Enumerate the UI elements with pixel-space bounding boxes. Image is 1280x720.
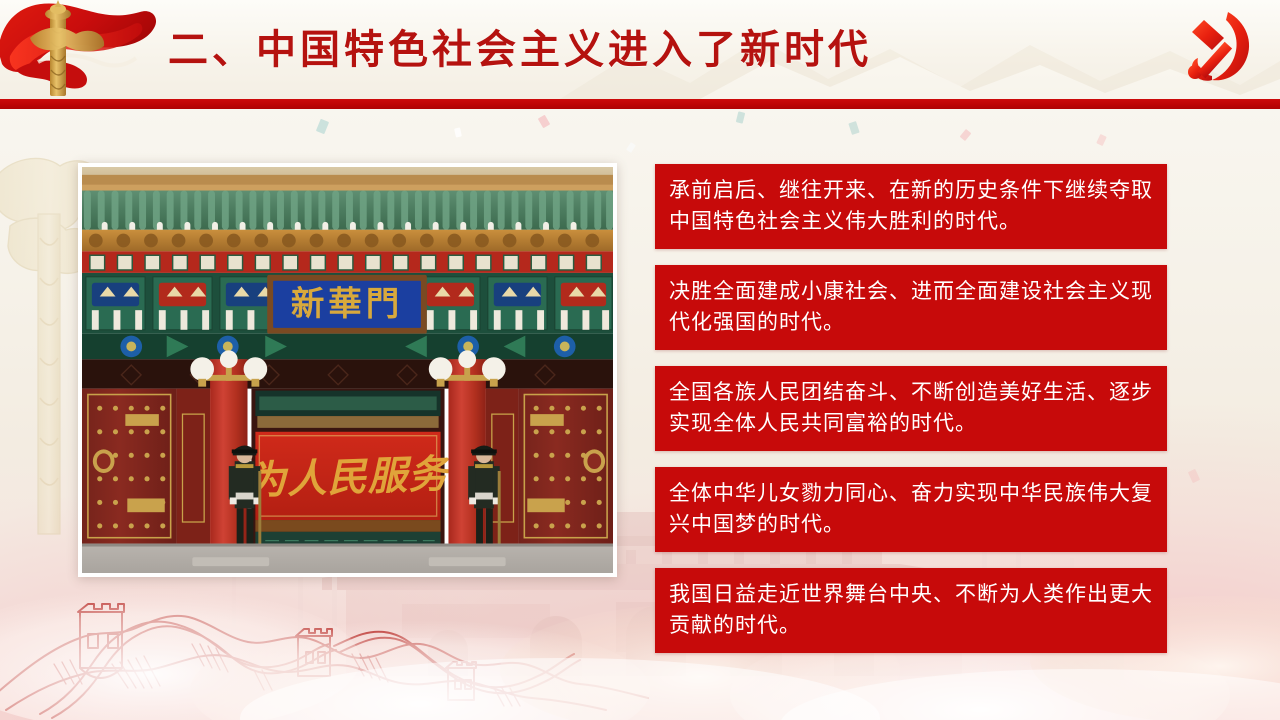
confetti-fleck (1188, 469, 1200, 483)
confetti-fleck (626, 142, 636, 153)
statement-panel: 决胜全面建成小康社会、进而全面建设社会主义现代化强国的时代。 (655, 265, 1167, 350)
great-wall-line-art (0, 572, 656, 720)
statement-panel-list: 承前启后、继往开来、在新的历史条件下继续夺取中国特色社会主义伟大胜利的时代。 决… (655, 164, 1167, 653)
confetti-fleck (1096, 134, 1107, 146)
statement-panel: 全国各族人民团结奋斗、不断创造美好生活、逐步实现全体人民共同富裕的时代。 (655, 366, 1167, 451)
confetti-fleck (848, 121, 859, 135)
header-divider-rule (0, 99, 1280, 109)
statement-panel: 我国日益走近世界舞台中央、不断为人类作出更大贡献的时代。 (655, 568, 1167, 653)
slide-header: 二、中国特色社会主义进入了新时代 (0, 0, 1280, 99)
confetti-fleck (316, 119, 329, 134)
cpc-hammer-sickle-emblem (1168, 6, 1264, 90)
svg-text:为人民服务: 为人民服务 (246, 452, 453, 503)
statement-panel: 承前启后、继往开来、在新的历史条件下继续夺取中国特色社会主义伟大胜利的时代。 (655, 164, 1167, 249)
confetti-fleck (736, 111, 745, 123)
red-flag-huabiao-emblem (0, 0, 184, 99)
slide-canvas: 新華門 (0, 0, 1280, 720)
statement-panel: 全体中华儿女勠力同心、奋力实现中华民族伟大复兴中国梦的时代。 (655, 467, 1167, 552)
confetti-fleck (538, 115, 550, 129)
svg-text:新華門: 新華門 (291, 286, 403, 323)
page-title: 二、中国特色社会主义进入了新时代 (168, 17, 872, 75)
xinhua-gate-photo: 新華門 (78, 163, 617, 577)
confetti-fleck (454, 127, 462, 137)
confetti-fleck (960, 129, 972, 141)
